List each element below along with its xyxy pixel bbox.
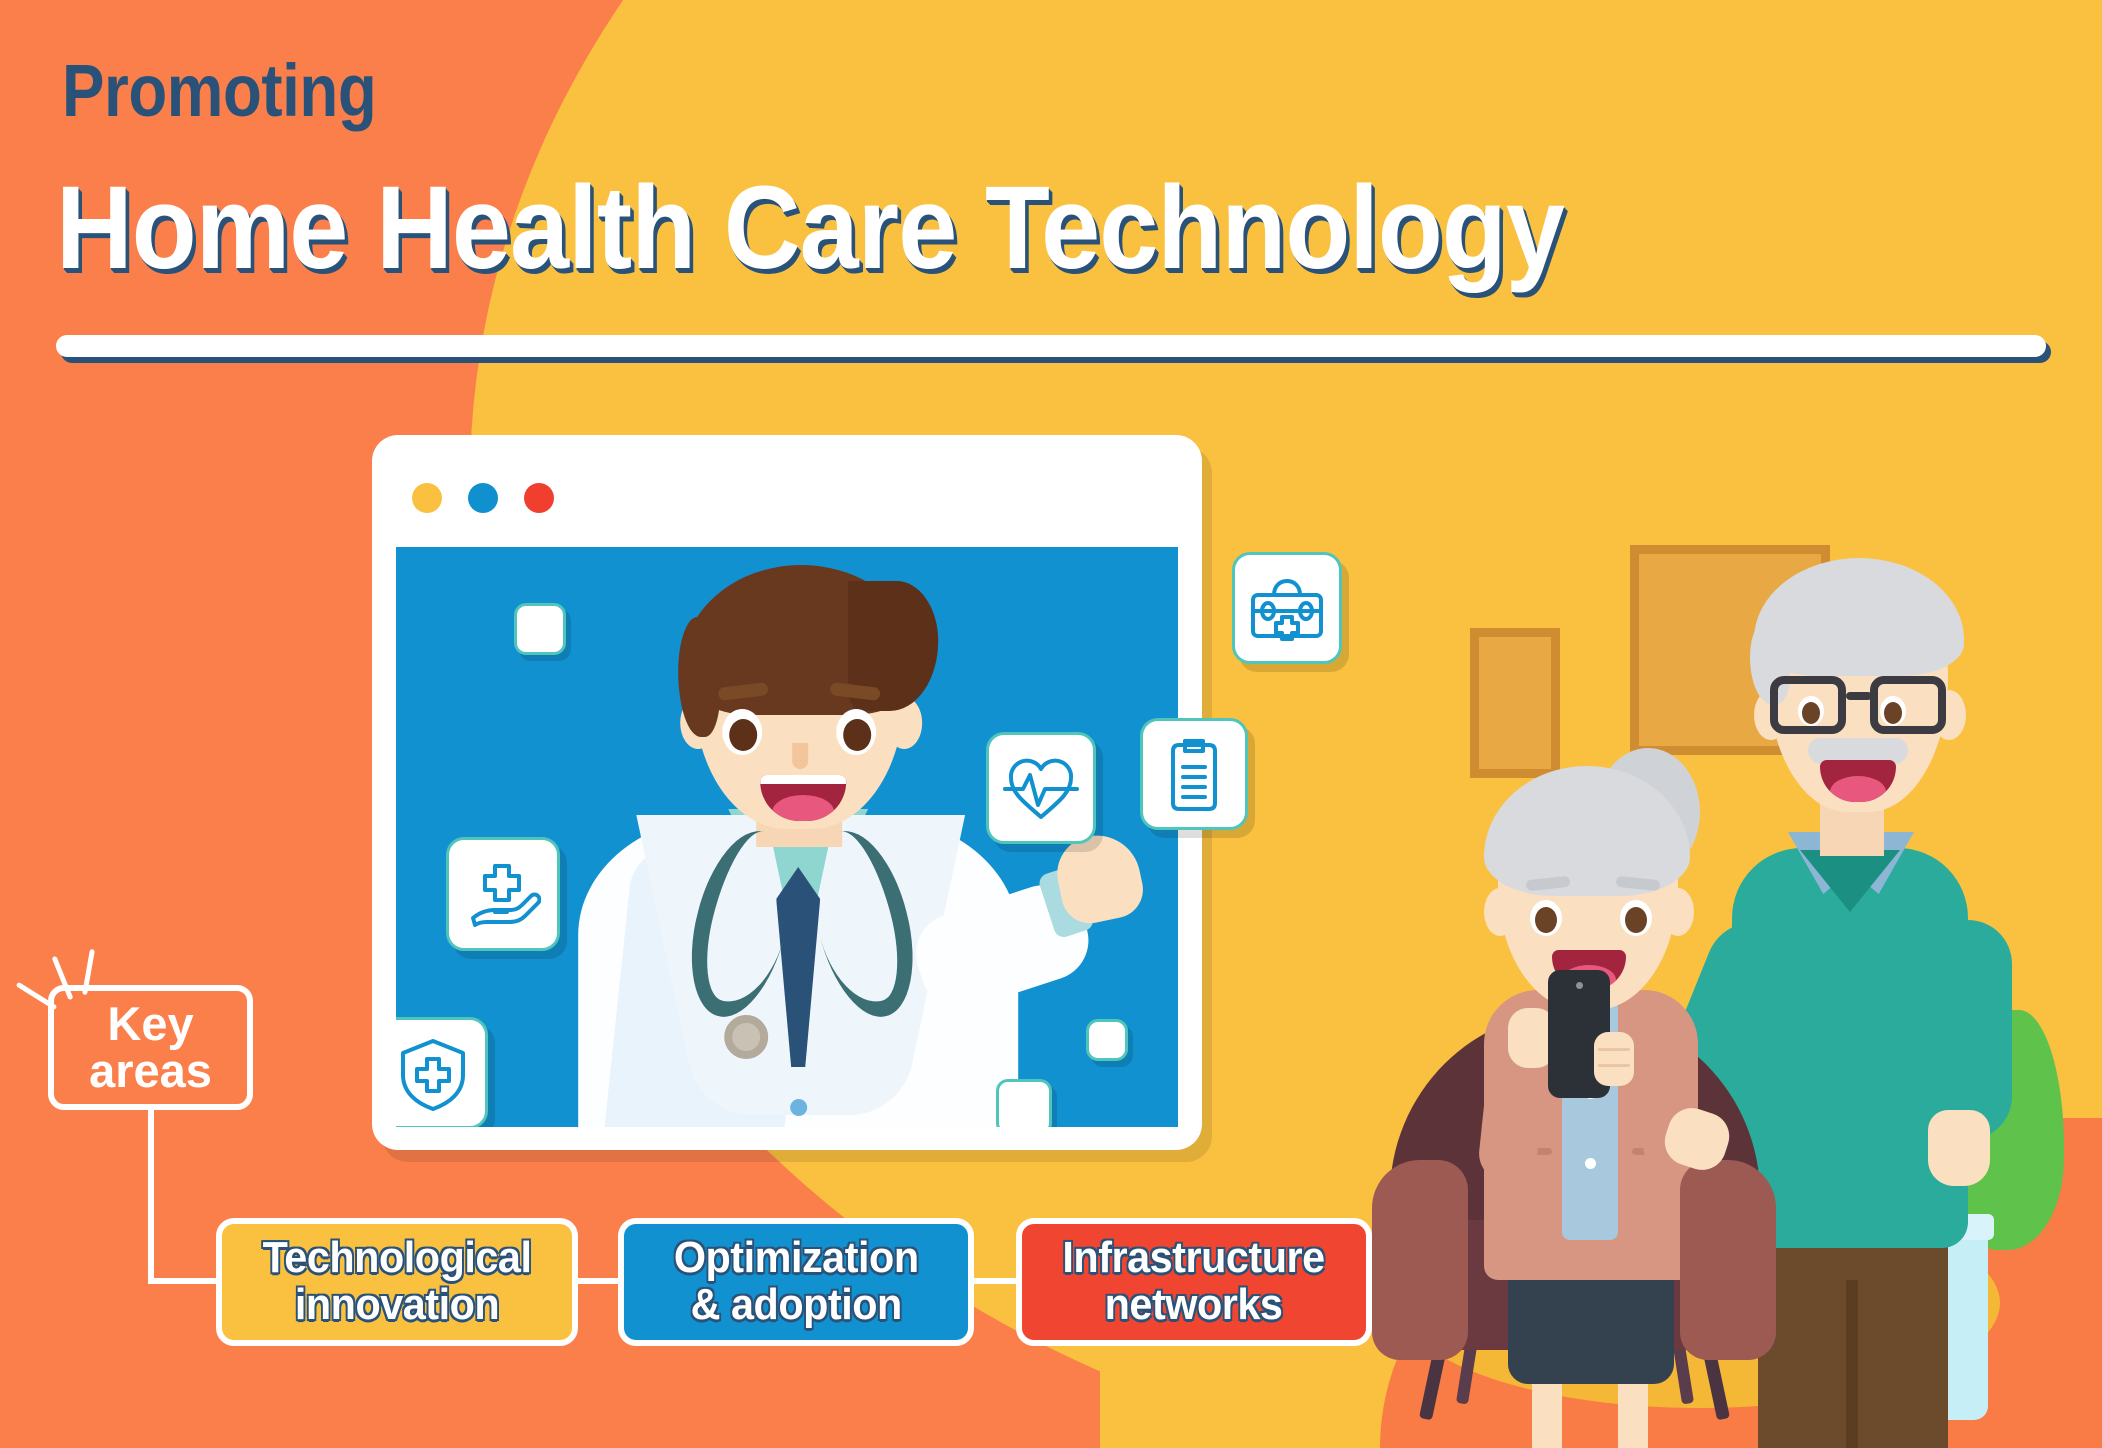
shield-cross-icon[interactable] bbox=[396, 1017, 488, 1127]
doctor-tongue bbox=[772, 795, 834, 821]
grandmother-pupil-left bbox=[1535, 907, 1557, 933]
grandfather-leg-seam bbox=[1846, 1280, 1858, 1448]
key-areas-label: Key areas bbox=[89, 1001, 212, 1093]
key-area-1-line1: Technological bbox=[263, 1235, 532, 1282]
doctor-teeth bbox=[760, 775, 846, 784]
key-area-label-3: Infrastructure networks bbox=[1063, 1235, 1325, 1328]
grandfather-mouth bbox=[1820, 760, 1896, 802]
wall-frame-small bbox=[1470, 628, 1560, 778]
eyeglass-bridge bbox=[1846, 692, 1872, 700]
infographic-poster: Promoting Home Health Care Technology bbox=[0, 0, 2102, 1448]
key-area-3-line1: Infrastructure bbox=[1063, 1235, 1325, 1282]
key-area-box-technological-innovation[interactable]: Technological innovation bbox=[216, 1218, 578, 1346]
key-area-label-1: Technological innovation bbox=[263, 1235, 532, 1328]
heart-pulse-icon[interactable] bbox=[986, 732, 1096, 844]
page-title: Home Health Care Technology bbox=[56, 160, 1564, 296]
grandfather-arm-right bbox=[1916, 920, 2012, 1140]
doctor-hair-sideburn bbox=[678, 617, 720, 737]
connector-to-box-1 bbox=[148, 1278, 223, 1284]
key-area-2-line2: & adoption bbox=[674, 1282, 919, 1329]
armchair-armrest-left bbox=[1372, 1160, 1468, 1360]
window-dot-red-icon[interactable] bbox=[524, 483, 554, 513]
hand-holding-cross-icon[interactable] bbox=[446, 837, 560, 951]
doctor-coat-button bbox=[790, 1099, 807, 1116]
clipboard-icon[interactable] bbox=[1140, 718, 1248, 830]
window-traffic-lights bbox=[412, 483, 554, 513]
armchair-armrest-right bbox=[1680, 1160, 1776, 1360]
decorative-card-bottom-right bbox=[1086, 1019, 1128, 1061]
video-screen bbox=[396, 547, 1178, 1127]
grandmother-fingers bbox=[1594, 1032, 1634, 1086]
grandmother-leg-right bbox=[1618, 1376, 1648, 1448]
doctor-mouth bbox=[760, 775, 846, 821]
key-area-1-line2: innovation bbox=[263, 1282, 532, 1329]
connector-to-box-2 bbox=[575, 1278, 620, 1284]
eyeglasses-icon bbox=[1764, 676, 1954, 738]
elderly-couple-scene bbox=[1380, 520, 2102, 1448]
connector-vertical bbox=[148, 1110, 154, 1283]
decorative-card-bottom-center bbox=[996, 1079, 1052, 1127]
window-dot-yellow-icon[interactable] bbox=[412, 483, 442, 513]
key-areas-label-line1: Key bbox=[89, 1001, 212, 1047]
key-area-3-line2: networks bbox=[1063, 1282, 1325, 1329]
grandmother-shirt-button-bottom bbox=[1585, 1158, 1596, 1169]
grandfather-hand-right bbox=[1928, 1110, 1990, 1186]
decorative-card-top-left bbox=[514, 603, 566, 655]
eyeglass-lens-right bbox=[1870, 676, 1946, 734]
key-areas-callout[interactable]: Key areas bbox=[48, 985, 253, 1110]
key-area-label-2: Optimization & adoption bbox=[674, 1235, 919, 1328]
key-area-2-line1: Optimization bbox=[674, 1235, 919, 1282]
grandfather-tongue bbox=[1830, 776, 1886, 802]
doctor-nose bbox=[792, 743, 808, 769]
stethoscope-bell-icon bbox=[724, 1015, 768, 1059]
eyeglass-lens-left bbox=[1770, 676, 1846, 734]
telehealth-window[interactable] bbox=[372, 435, 1202, 1150]
grandmother-pupil-right bbox=[1625, 907, 1647, 933]
medical-bag-icon[interactable] bbox=[1232, 552, 1342, 664]
key-area-box-optimization-adoption[interactable]: Optimization & adoption bbox=[618, 1218, 974, 1346]
window-dot-blue-icon[interactable] bbox=[468, 483, 498, 513]
connector-to-box-3 bbox=[972, 1278, 1020, 1284]
key-area-box-infrastructure-networks[interactable]: Infrastructure networks bbox=[1016, 1218, 1372, 1346]
smartphone-camera-icon bbox=[1576, 982, 1583, 989]
key-areas-label-line2: areas bbox=[89, 1048, 212, 1094]
grandmother-leg-left bbox=[1532, 1376, 1562, 1448]
doctor-pupil-left bbox=[729, 719, 757, 751]
kicker-text: Promoting bbox=[62, 48, 376, 133]
title-underline-rule bbox=[56, 335, 2046, 357]
doctor-pupil-right bbox=[843, 719, 871, 751]
